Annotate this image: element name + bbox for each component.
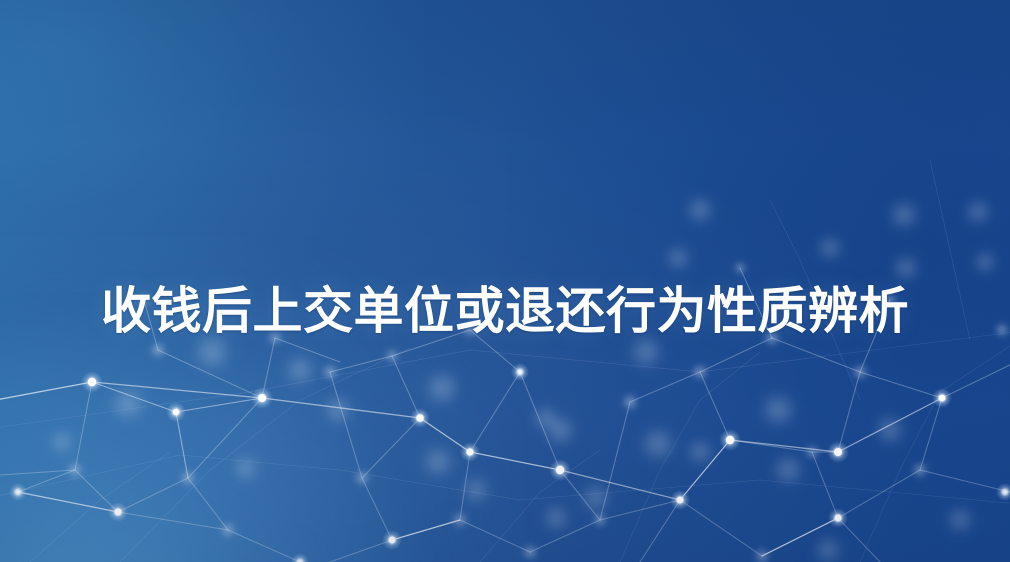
presentation-slide: 收钱后上交单位或退还行为性质辨析 bbox=[0, 0, 1010, 562]
background-vignette bbox=[0, 0, 1010, 562]
